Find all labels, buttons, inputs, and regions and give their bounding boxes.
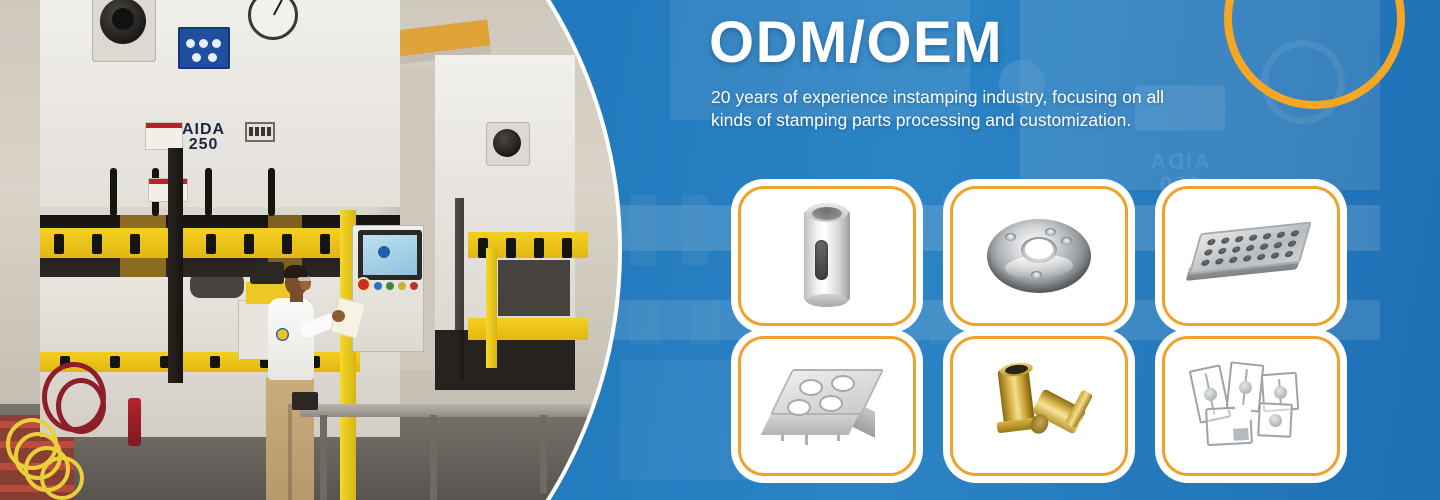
- product-card-round-flange[interactable]: [950, 186, 1128, 326]
- control-button-row[interactable]: [360, 282, 414, 292]
- product-perforated-plate-icon: [1192, 222, 1309, 289]
- conveyor-table: [300, 404, 630, 417]
- hmi-touchscreen[interactable]: [358, 230, 422, 280]
- press-warning-label: [145, 122, 183, 150]
- product-brass-eyelets-icon: [987, 364, 1091, 448]
- odm-oem-banner: AIDA 250: [0, 0, 1440, 500]
- product-stamped-frames-icon: [1192, 363, 1310, 449]
- safety-glasses: [298, 277, 311, 281]
- banner-subtext: 20 years of experience instamping indust…: [711, 86, 1191, 132]
- product-card-cylindrical-sleeve[interactable]: [738, 186, 916, 326]
- page-title: ODM/OEM: [709, 14, 1003, 72]
- press-brand-label: AIDA250: [182, 122, 225, 152]
- product-card-grid: [738, 186, 1343, 476]
- product-cylindrical-sleeve-icon: [804, 210, 850, 302]
- product-card-perforated-plate[interactable]: [1162, 186, 1340, 326]
- safety-placard: [178, 27, 230, 69]
- pneumatic-tool: [128, 398, 141, 446]
- press-counter: [245, 122, 275, 142]
- product-card-shield-box[interactable]: [738, 336, 916, 476]
- product-card-stamped-frames[interactable]: [1162, 336, 1340, 476]
- uniform-logo: [276, 328, 289, 341]
- product-shield-box-icon: [775, 369, 879, 443]
- product-card-brass-eyelets[interactable]: [950, 336, 1128, 476]
- product-round-flange-icon: [987, 219, 1091, 293]
- bolster-bar-main: [40, 228, 360, 258]
